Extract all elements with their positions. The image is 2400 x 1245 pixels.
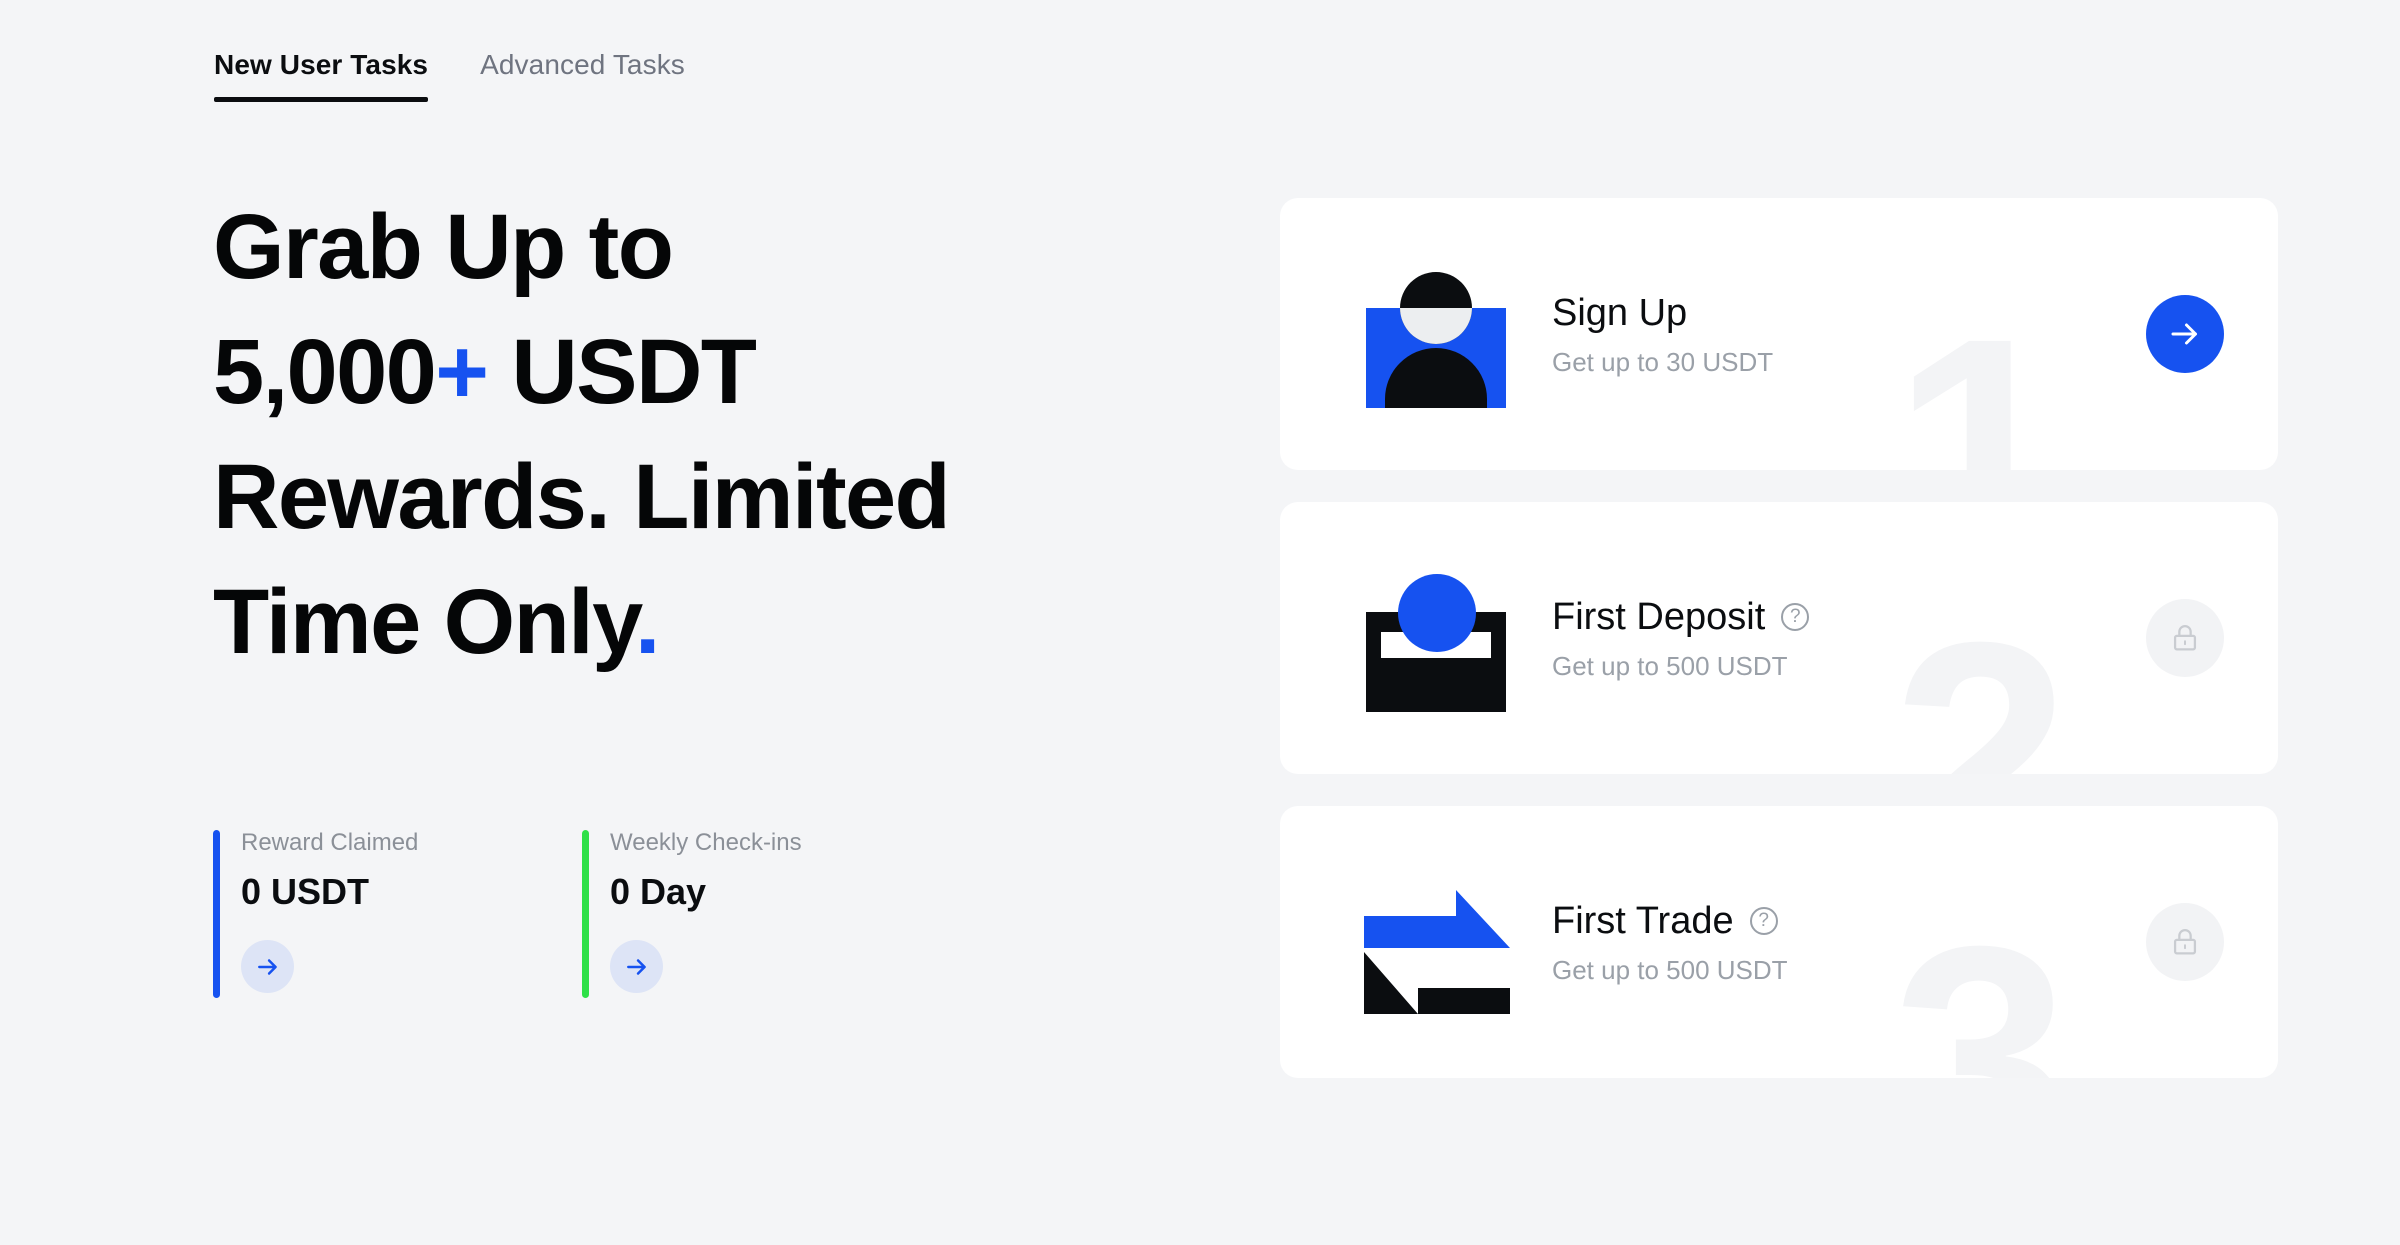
first-deposit-locked-button — [2146, 599, 2224, 677]
lock-icon — [2168, 925, 2202, 959]
first-trade-locked-button — [2146, 903, 2224, 981]
reward-claimed-go-button[interactable] — [241, 940, 294, 993]
tab-label: New User Tasks — [214, 49, 428, 80]
task-card-first-deposit[interactable]: 2 First Deposit ? Get up to 500 USDT — [1280, 502, 2278, 774]
task-subtitle: Get up to 500 USDT — [1552, 649, 2146, 683]
question-circle-icon[interactable]: ? — [1750, 907, 1778, 935]
stat-accent-bar — [582, 830, 589, 998]
task-title: First Trade — [1552, 897, 1734, 945]
promo-headline: Grab Up to 5,000+ USDT Rewards. Limited … — [213, 185, 1173, 685]
headline-plus: + — [435, 321, 487, 423]
deposit-coin-icon — [1362, 564, 1510, 712]
task-title-row: First Deposit ? — [1552, 593, 2146, 641]
headline-line-1: Grab Up to — [213, 196, 672, 298]
stat-label: Weekly Check-ins — [610, 828, 802, 858]
sign-up-go-button[interactable] — [2146, 295, 2224, 373]
weekly-checkins-go-button[interactable] — [610, 940, 663, 993]
task-title-row: Sign Up — [1552, 289, 2146, 337]
headline-line-3: Rewards. Limited — [213, 446, 949, 548]
stat-label: Reward Claimed — [241, 828, 423, 858]
task-subtitle: Get up to 30 USDT — [1552, 345, 2146, 379]
lock-icon — [2168, 621, 2202, 655]
task-text-block: Sign Up Get up to 30 USDT — [1552, 289, 2146, 379]
headline-line-4: Time Only — [213, 571, 635, 673]
tab-advanced-tasks[interactable]: Advanced Tasks — [480, 48, 685, 102]
trade-arrows-icon — [1362, 868, 1510, 1016]
question-circle-icon[interactable]: ? — [1781, 603, 1809, 631]
task-card-first-trade[interactable]: 3 First Trade ? Get up to 500 USDT — [1280, 806, 2278, 1078]
task-text-block: First Deposit ? Get up to 500 USDT — [1552, 593, 2146, 683]
task-card-list: 1 Sign Up Get up to 30 USDT — [1280, 198, 2278, 1078]
task-title: Sign Up — [1552, 289, 1687, 337]
tab-new-user-tasks[interactable]: New User Tasks — [214, 48, 428, 102]
arrow-right-icon — [2167, 316, 2203, 352]
headline-amount: 5,000 — [213, 321, 435, 423]
stat-value: 0 USDT — [241, 870, 423, 914]
user-avatar-icon — [1362, 260, 1510, 408]
task-title: First Deposit — [1552, 593, 1765, 641]
task-text-block: First Trade ? Get up to 500 USDT — [1552, 897, 2146, 987]
headline-currency: USDT — [487, 321, 755, 423]
stat-accent-bar — [213, 830, 220, 998]
stats-row: Reward Claimed 0 USDT Weekly Check-ins 0… — [213, 828, 802, 993]
arrow-right-icon — [624, 954, 650, 980]
headline-period: . — [635, 571, 659, 673]
task-title-row: First Trade ? — [1552, 897, 2146, 945]
stat-value: 0 Day — [610, 870, 802, 914]
rewards-page: New User Tasks Advanced Tasks Grab Up to… — [0, 0, 2400, 1245]
stat-weekly-checkins: Weekly Check-ins 0 Day — [582, 828, 802, 993]
stat-reward-claimed: Reward Claimed 0 USDT — [213, 828, 423, 993]
task-tabs: New User Tasks Advanced Tasks — [214, 48, 685, 102]
tab-label: Advanced Tasks — [480, 49, 685, 80]
task-card-sign-up[interactable]: 1 Sign Up Get up to 30 USDT — [1280, 198, 2278, 470]
arrow-right-icon — [255, 954, 281, 980]
task-subtitle: Get up to 500 USDT — [1552, 953, 2146, 987]
